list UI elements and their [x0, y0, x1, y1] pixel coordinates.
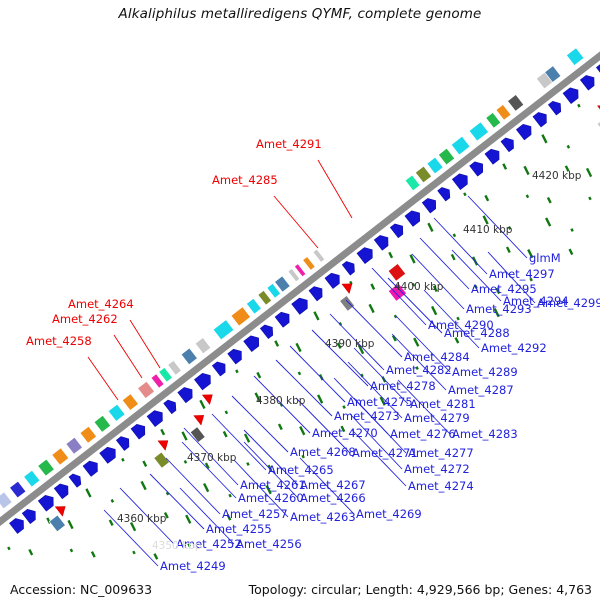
rna-feature-dash[interactable] — [86, 489, 90, 497]
gene-label[interactable]: Amet_4287 — [448, 385, 514, 396]
feature-box[interactable] — [451, 136, 470, 155]
gene-label-leader-line — [276, 360, 332, 416]
rna-gene-label-leader-line — [114, 335, 142, 378]
rna-feature-dash[interactable] — [452, 254, 455, 259]
gene-label[interactable]: Amet_4275 — [347, 397, 413, 408]
rna-feature-dash[interactable] — [71, 549, 72, 552]
gene-arrow-forward[interactable] — [580, 75, 594, 90]
feature-box[interactable] — [231, 307, 250, 326]
rna-gene-label-leader-line — [318, 160, 352, 218]
gene-label[interactable]: Amet_4269 — [356, 509, 422, 520]
gene-arrow-forward[interactable] — [405, 211, 420, 226]
gene-arrow-forward[interactable] — [100, 447, 116, 463]
gene-label[interactable]: Amet_4297 — [489, 269, 555, 280]
feature-box[interactable] — [168, 360, 182, 375]
rna-gene-label-leader-line — [88, 357, 118, 400]
rna-feature-dash[interactable] — [571, 229, 572, 232]
gene-label[interactable]: Amet_4289 — [452, 367, 518, 378]
feature-box[interactable] — [122, 394, 138, 411]
rna-feature-dash[interactable] — [275, 341, 278, 346]
rna-feature-dash[interactable] — [371, 284, 374, 289]
feature-box[interactable] — [181, 348, 197, 365]
rna-feature-arrow[interactable] — [158, 441, 168, 451]
rna-feature-dash[interactable] — [224, 431, 227, 436]
feature-box[interactable] — [80, 426, 97, 443]
rna-feature-dash[interactable] — [296, 343, 300, 351]
gene-arrow-forward[interactable] — [563, 88, 578, 104]
rna-feature-dash[interactable] — [186, 515, 190, 523]
rna-feature-dash[interactable] — [29, 550, 32, 555]
gene-label[interactable]: Amet_4260 — [238, 493, 304, 504]
gene-arrow-forward[interactable] — [374, 235, 388, 250]
rna-feature-dash[interactable] — [370, 304, 374, 312]
gene-arrow-forward[interactable] — [452, 174, 467, 190]
rna-feature-dash[interactable] — [587, 168, 591, 176]
feature-box[interactable] — [138, 381, 155, 398]
rna-feature-dash[interactable] — [414, 338, 418, 346]
accession-label: Accession: NC_009633 — [10, 582, 152, 597]
gene-arrow-forward[interactable] — [275, 312, 289, 327]
feature-box[interactable] — [313, 249, 325, 262]
rna-feature-dash[interactable] — [236, 370, 237, 373]
rna-feature-dash[interactable] — [257, 372, 260, 377]
feature-box[interactable] — [427, 157, 443, 174]
gene-label[interactable]: Amet_4270 — [312, 428, 378, 439]
rna-feature-dash[interactable] — [578, 104, 579, 107]
gene-arrow-forward[interactable] — [194, 373, 210, 389]
gene-arrow-forward[interactable] — [325, 273, 339, 288]
rna-feature-dash[interactable] — [314, 312, 318, 320]
rna-feature-dash[interactable] — [527, 195, 528, 198]
feature-box[interactable] — [469, 122, 488, 141]
scale-tick-label: 4400 kbp — [394, 282, 443, 293]
rna-feature-dash[interactable] — [300, 427, 304, 435]
rna-gene-label[interactable]: Amet_4291 — [256, 139, 322, 150]
gene-arrow-forward[interactable] — [390, 224, 403, 238]
gene-label[interactable]: Amet_4266 — [300, 493, 366, 504]
rna-gene-label-leader-line — [130, 320, 160, 368]
gene-arrow-forward[interactable] — [533, 112, 546, 126]
rna-feature-dash[interactable] — [185, 461, 186, 464]
gene-label[interactable]: Amet_4265 — [268, 465, 334, 476]
rna-feature-dash[interactable] — [428, 223, 432, 231]
rna-gene-label[interactable]: Amet_4285 — [212, 175, 278, 186]
rna-feature-box[interactable] — [190, 427, 205, 443]
rna-feature-box[interactable] — [49, 515, 65, 532]
rna-feature-dash[interactable] — [589, 197, 590, 200]
gene-label[interactable]: Amet_4282 — [386, 365, 452, 376]
rna-feature-dash[interactable] — [226, 411, 227, 414]
rna-gene-label-leader-line — [274, 196, 318, 248]
gene-label[interactable]: Amet_4261 — [240, 480, 306, 491]
gene-label[interactable]: Amet_4278 — [370, 381, 436, 392]
rna-feature-dash[interactable] — [122, 458, 123, 461]
feature-box[interactable] — [108, 404, 125, 421]
rna-feature-box[interactable] — [154, 452, 170, 468]
feature-box[interactable] — [303, 257, 315, 271]
rna-feature-dash[interactable] — [68, 520, 72, 528]
rna-feature-dash[interactable] — [389, 252, 392, 257]
rna-feature-dash[interactable] — [503, 164, 506, 169]
gene-label[interactable]: glmM — [529, 253, 561, 264]
rna-feature-dash[interactable] — [204, 483, 208, 491]
gene-arrow-forward[interactable] — [470, 162, 483, 176]
scale-tick-label: 4420 kbp — [532, 171, 581, 182]
feature-box[interactable] — [508, 95, 524, 112]
scale-tick-label: 4350 kbp — [152, 541, 201, 552]
gene-label[interactable]: Amet_4249 — [160, 561, 226, 572]
rna-feature-dash[interactable] — [8, 547, 9, 550]
gene-arrow-forward[interactable] — [422, 198, 435, 212]
gene-label[interactable]: Amet_4268 — [290, 447, 356, 458]
feature-box[interactable] — [38, 459, 55, 476]
rna-feature-box[interactable] — [388, 263, 406, 281]
rna-feature-dash[interactable] — [432, 306, 436, 314]
feature-box[interactable] — [246, 298, 261, 314]
gene-arrow-forward[interactable] — [309, 287, 322, 301]
gene-arrow-forward[interactable] — [178, 388, 192, 403]
gene-label[interactable]: Amet_4274 — [408, 481, 474, 492]
gene-arrow-forward[interactable] — [83, 461, 97, 476]
rna-feature-dash[interactable] — [229, 494, 230, 497]
gene-arrow-forward[interactable] — [131, 424, 145, 439]
feature-box[interactable] — [486, 112, 501, 128]
gene-label[interactable]: Amet_4276 — [390, 429, 456, 440]
feature-box[interactable] — [94, 415, 111, 432]
gene-arrow-forward[interactable] — [9, 518, 23, 533]
rna-feature-arrow[interactable] — [194, 415, 204, 425]
gene-label-leader-line — [166, 458, 220, 514]
rna-gene-label[interactable]: Amet_4264 — [68, 299, 134, 310]
gene-label[interactable]: Amet_4281 — [410, 399, 476, 410]
feature-box[interactable] — [24, 470, 40, 487]
rna-gene-label[interactable]: Amet_4262 — [52, 314, 118, 325]
rna-feature-dash[interactable] — [548, 197, 551, 202]
gene-arrow-forward[interactable] — [548, 101, 560, 115]
scale-tick-label: 4360 kbp — [117, 514, 166, 525]
rna-feature-box[interactable] — [340, 296, 355, 312]
rna-feature-dash[interactable] — [133, 551, 134, 554]
rna-feature-dash[interactable] — [279, 424, 282, 429]
rna-feature-dash[interactable] — [464, 193, 465, 196]
genome-graphical-view: Alkaliphilus metalliredigens QYMF, compl… — [0, 0, 600, 600]
gene-label[interactable]: Amet_4256 — [236, 539, 302, 550]
rna-feature-dash[interactable] — [484, 216, 488, 224]
rna-feature-dash[interactable] — [485, 195, 488, 200]
rna-feature-dash[interactable] — [182, 432, 186, 440]
gene-label[interactable]: Amet_4267 — [300, 480, 366, 491]
gene-arrow-forward[interactable] — [116, 437, 129, 451]
scale-tick-label: 4380 kbp — [256, 396, 305, 407]
scale-tick-label: 4370 kbp — [187, 453, 236, 464]
rna-feature-dash[interactable] — [318, 395, 322, 403]
gene-arrow-forward[interactable] — [596, 64, 600, 78]
gene-arrow-forward[interactable] — [212, 362, 225, 376]
feature-box[interactable] — [52, 448, 69, 465]
gene-label[interactable]: Amet_4273 — [334, 411, 400, 422]
rna-feature-dash[interactable] — [143, 461, 146, 466]
rna-feature-dash[interactable] — [507, 247, 510, 252]
rna-feature-dash[interactable] — [112, 500, 113, 503]
gene-arrow-forward[interactable] — [164, 400, 176, 414]
feature-box[interactable] — [405, 175, 420, 191]
rna-feature-dash[interactable] — [110, 520, 113, 525]
feature-box[interactable] — [566, 48, 584, 66]
gene-arrow-forward[interactable] — [501, 138, 514, 152]
gene-arrow-forward[interactable] — [228, 349, 242, 364]
scale-tick-label: 4390 kbp — [325, 339, 374, 350]
rna-feature-dash[interactable] — [570, 249, 573, 254]
gene-label[interactable]: Amet_4292 — [481, 343, 547, 354]
gene-label[interactable]: Amet_4279 — [404, 413, 470, 424]
rna-feature-dash[interactable] — [546, 218, 550, 226]
gene-label[interactable]: Amet_4283 — [452, 429, 518, 440]
gene-label[interactable]: Amet_4257 — [222, 509, 288, 520]
gene-arrow-forward[interactable] — [38, 495, 53, 511]
rna-feature-dash[interactable] — [161, 429, 164, 434]
gene-arrow-forward[interactable] — [342, 261, 354, 275]
gene-arrow-forward[interactable] — [244, 336, 259, 352]
gene-arrow-forward[interactable] — [516, 124, 531, 139]
gene-label-leader-line — [182, 442, 236, 498]
gene-label[interactable]: Amet_4277 — [408, 448, 474, 459]
topology-label: Topology: circular; Length: 4,929,566 bp… — [249, 582, 592, 597]
gene-arrow-forward[interactable] — [54, 484, 68, 499]
feature-box[interactable] — [195, 338, 211, 354]
feature-box[interactable] — [258, 290, 272, 305]
rna-feature-dash[interactable] — [299, 372, 300, 375]
feature-box[interactable] — [0, 492, 12, 509]
gene-label[interactable]: Amet_4272 — [404, 464, 470, 475]
rna-feature-dash[interactable] — [142, 481, 146, 489]
rna-feature-dash[interactable] — [454, 234, 455, 237]
gene-arrow-forward[interactable] — [22, 509, 35, 523]
rna-feature-dash[interactable] — [92, 552, 95, 557]
rna-feature-dash[interactable] — [200, 400, 204, 408]
feature-box[interactable] — [496, 104, 511, 120]
rna-feature-arrow[interactable] — [202, 395, 212, 405]
rna-feature-dash[interactable] — [568, 145, 569, 148]
gene-arrow-forward[interactable] — [438, 187, 450, 201]
gene-arrow-forward[interactable] — [357, 248, 372, 264]
gene-label[interactable]: Amet_4284 — [404, 352, 470, 363]
rna-gene-label[interactable]: Amet_4258 — [26, 336, 92, 347]
rna-feature-dash[interactable] — [154, 554, 157, 559]
rna-feature-dash[interactable] — [542, 135, 546, 143]
gene-arrow-forward[interactable] — [260, 325, 272, 339]
feature-box[interactable] — [438, 148, 454, 165]
gene-label[interactable]: Amet_4255 — [206, 524, 272, 535]
gene-label[interactable]: Amet_4294 — [503, 296, 569, 307]
gene-arrow-forward[interactable] — [292, 298, 308, 314]
feature-box[interactable] — [10, 481, 26, 498]
feature-box[interactable] — [213, 320, 234, 340]
gene-arrow-forward[interactable] — [69, 474, 81, 487]
gene-arrow-forward[interactable] — [147, 411, 162, 427]
rna-feature-arrow[interactable] — [342, 284, 352, 294]
gene-arrow-forward[interactable] — [485, 149, 499, 164]
gene-label[interactable]: Amet_4288 — [444, 328, 510, 339]
rna-feature-dash[interactable] — [247, 463, 248, 466]
rna-feature-dash[interactable] — [524, 166, 528, 174]
rna-feature-arrow[interactable] — [55, 506, 65, 516]
feature-box[interactable] — [415, 166, 431, 183]
gene-label[interactable]: Amet_4263 — [290, 512, 356, 523]
status-bar: Accession: NC_009633 Topology: circular;… — [0, 578, 600, 600]
feature-box[interactable] — [66, 437, 83, 454]
scale-tick-label: 4410 kbp — [463, 225, 512, 236]
